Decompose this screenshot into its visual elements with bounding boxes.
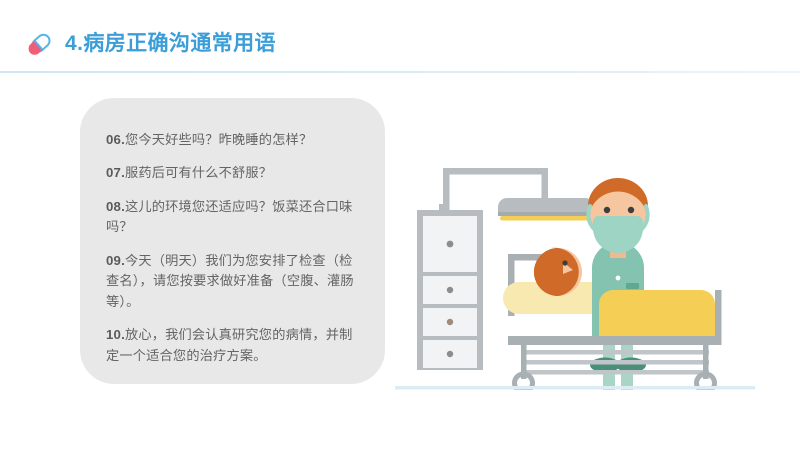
phrase-number: 08.: [106, 199, 125, 214]
list-item: 08.这儿的环境您还适应吗？饭菜还合口味吗？: [106, 197, 359, 238]
pill-capsule-icon: [26, 28, 56, 58]
list-item: 06.您今天好些吗？昨晚睡的怎样？: [106, 130, 359, 150]
phrase-list: 06.您今天好些吗？昨晚睡的怎样？ 07.服药后可有什么不舒服？ 08.这儿的环…: [106, 130, 359, 366]
hospital-ward-illustration: [395, 150, 755, 390]
slide-header: 4.病房正确沟通常用语: [0, 0, 800, 72]
page-title: 4.病房正确沟通常用语: [65, 33, 276, 54]
phrase-number: 06.: [106, 132, 125, 147]
header-divider: [0, 71, 800, 73]
phrase-text: 您今天好些吗？昨晚睡的怎样？: [125, 132, 312, 147]
header-content: 4.病房正确沟通常用语: [26, 28, 276, 58]
doctor-figure: [588, 178, 648, 390]
list-item: 09.今天（明天）我们为您安排了检查（检查名），请您按要求做好准备（空腹、灌肠等…: [106, 251, 359, 312]
phrase-text: 这儿的环境您还适应吗？饭菜还合口味吗？: [106, 199, 353, 234]
phrase-card: 06.您今天好些吗？昨晚睡的怎样？ 07.服药后可有什么不舒服？ 08.这儿的环…: [80, 98, 385, 384]
slide-root: 4.病房正确沟通常用语 06.您今天好些吗？昨晚睡的怎样？ 07.服药后可有什么…: [0, 0, 800, 450]
phrase-text: 今天（明天）我们为您安排了检查（检查名），请您按要求做好准备（空腹、灌肠等）。: [106, 253, 354, 309]
list-item: 10.放心，我们会认真研究您的病情，并制定一个适合您的治疗方案。: [106, 325, 359, 366]
phrase-text: 放心，我们会认真研究您的病情，并制定一个适合您的治疗方案。: [106, 327, 353, 362]
phrase-text: 服药后可有什么不舒服？: [125, 165, 272, 180]
patient-figure: [534, 248, 582, 296]
floor-line: [395, 386, 755, 390]
phrase-number: 09.: [106, 253, 125, 268]
medical-cabinet-icon: [417, 204, 483, 370]
phrase-number: 07.: [106, 165, 125, 180]
phrase-number: 10.: [106, 327, 125, 342]
list-item: 07.服药后可有什么不舒服？: [106, 163, 359, 183]
